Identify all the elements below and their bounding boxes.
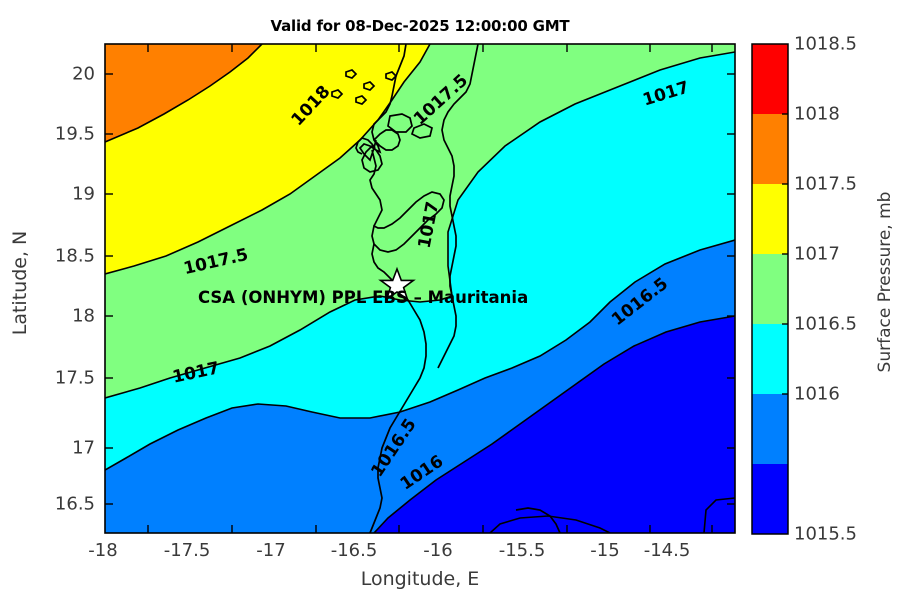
- cbtick-label-1015p5: 1015.5: [794, 524, 857, 545]
- colorbar-axis-label: Surface Pressure, mb: [875, 167, 895, 397]
- pressure-map-figure: Valid for 08-Dec-2025 12:00:00 GMT: [0, 0, 900, 600]
- ytick-label-16p5: 16.5: [10, 494, 95, 515]
- cbtick-label-1016p5: 1016.5: [794, 314, 857, 335]
- y-axis-label: Latitude, N: [9, 203, 31, 363]
- xtick-label-neg17p5: -17.5: [142, 540, 232, 561]
- xtick-label-neg18: -18: [58, 540, 148, 561]
- x-axis-label: Longitude, E: [105, 568, 735, 590]
- cbtick-label-1016: 1016: [794, 384, 840, 405]
- ytick-label-19p5: 19.5: [10, 124, 95, 145]
- colorbar: [752, 44, 788, 534]
- ytick-label-19: 19: [10, 184, 95, 205]
- ytick-label-17: 17: [10, 438, 95, 459]
- xtick-label-neg16: -16: [393, 540, 483, 561]
- colorbar-band-1017p5-1018: [752, 114, 788, 184]
- cbtick-label-1018: 1018: [794, 104, 840, 125]
- cbtick-label-1017p5: 1017.5: [794, 174, 857, 195]
- colorbar-band-1016-1016p5: [752, 324, 788, 394]
- xtick-label-neg14p5: -14.5: [622, 540, 712, 561]
- xtick-label-neg16p5: -16.5: [309, 540, 399, 561]
- colorbar-band-below-1015p5: [752, 464, 788, 534]
- colorbar-band-1016p5-1017: [752, 254, 788, 324]
- colorbar-band-1017-1017p5: [752, 184, 788, 254]
- station-label: CSA (ONHYM) PPL EBS – Mauritania: [198, 288, 528, 307]
- colorbar-band-1015p5-1016: [752, 394, 788, 464]
- xtick-label-neg17: -17: [226, 540, 316, 561]
- cbtick-label-1018p5: 1018.5: [794, 34, 857, 55]
- ytick-label-17p5: 17.5: [10, 368, 95, 389]
- xtick-label-neg15p5: -15.5: [477, 540, 567, 561]
- colorbar-band-1018-1018p5: [752, 44, 788, 114]
- cbtick-label-1017: 1017: [794, 244, 840, 265]
- ytick-label-20: 20: [10, 64, 95, 85]
